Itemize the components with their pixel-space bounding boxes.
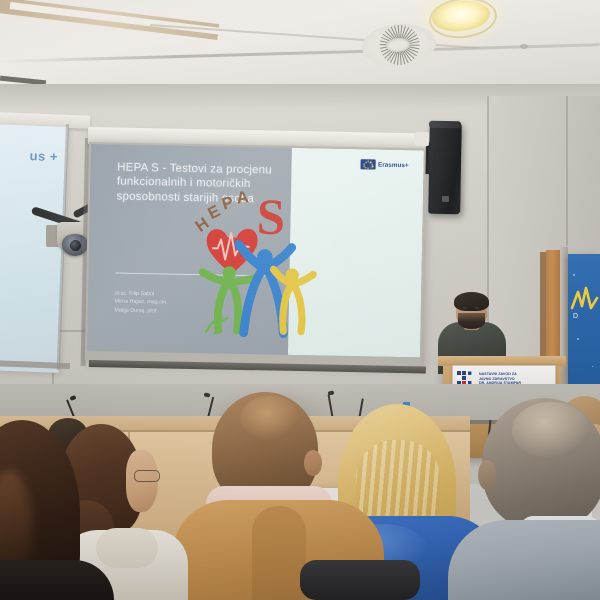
svg-text:A: A <box>236 187 250 207</box>
erasmus-badge: Erasmus+ <box>361 160 409 171</box>
audience-woman-scarf <box>96 528 158 568</box>
wall-mullion <box>566 96 568 246</box>
eu-flag-icon <box>361 160 376 170</box>
secondary-screen-text: us + <box>0 147 58 164</box>
wall-speaker-top <box>429 121 461 129</box>
audience-man-grey-ear <box>478 460 496 490</box>
svg-text:E: E <box>205 201 223 223</box>
svg-text:S: S <box>257 189 286 246</box>
chair-armrest <box>300 560 420 600</box>
svg-text:D: D <box>573 313 578 320</box>
presenter-eye <box>475 307 479 309</box>
projection-screen: HEPA S - Testovi za procjenu funkcionaln… <box>85 142 426 366</box>
ceiling-sensor-icon <box>520 44 528 49</box>
camera-lens-icon <box>70 240 81 251</box>
audience-man-tan-hair-highlight <box>240 396 300 440</box>
wall-speaker-badge <box>442 196 449 202</box>
svg-text:P: P <box>220 192 236 213</box>
audience-man-tan-lapel <box>252 506 306 600</box>
audience-man-grey-crown <box>512 402 590 458</box>
audience-man-grey-torso <box>448 520 600 600</box>
presenter-beard <box>458 313 485 329</box>
presentation-slide: HEPA S - Testovi za procjenu funkcionaln… <box>87 144 424 357</box>
lectern-sign-line-1: NASTAVNI ZAVOD ZA <box>479 372 521 377</box>
presenter-eye <box>463 307 467 309</box>
presenter-hair <box>454 292 489 311</box>
conference-photo: us + D HEPA S - Testovi za p <box>0 0 600 600</box>
audience-man-tan-ear <box>304 450 322 476</box>
audience-glasses-icon <box>134 470 160 482</box>
banner-logo-icon: D <box>570 282 600 322</box>
projection-screen-cap <box>415 132 429 146</box>
erasmus-label: Erasmus+ <box>378 161 409 169</box>
hepa-s-logo: H E P A S <box>101 173 410 344</box>
